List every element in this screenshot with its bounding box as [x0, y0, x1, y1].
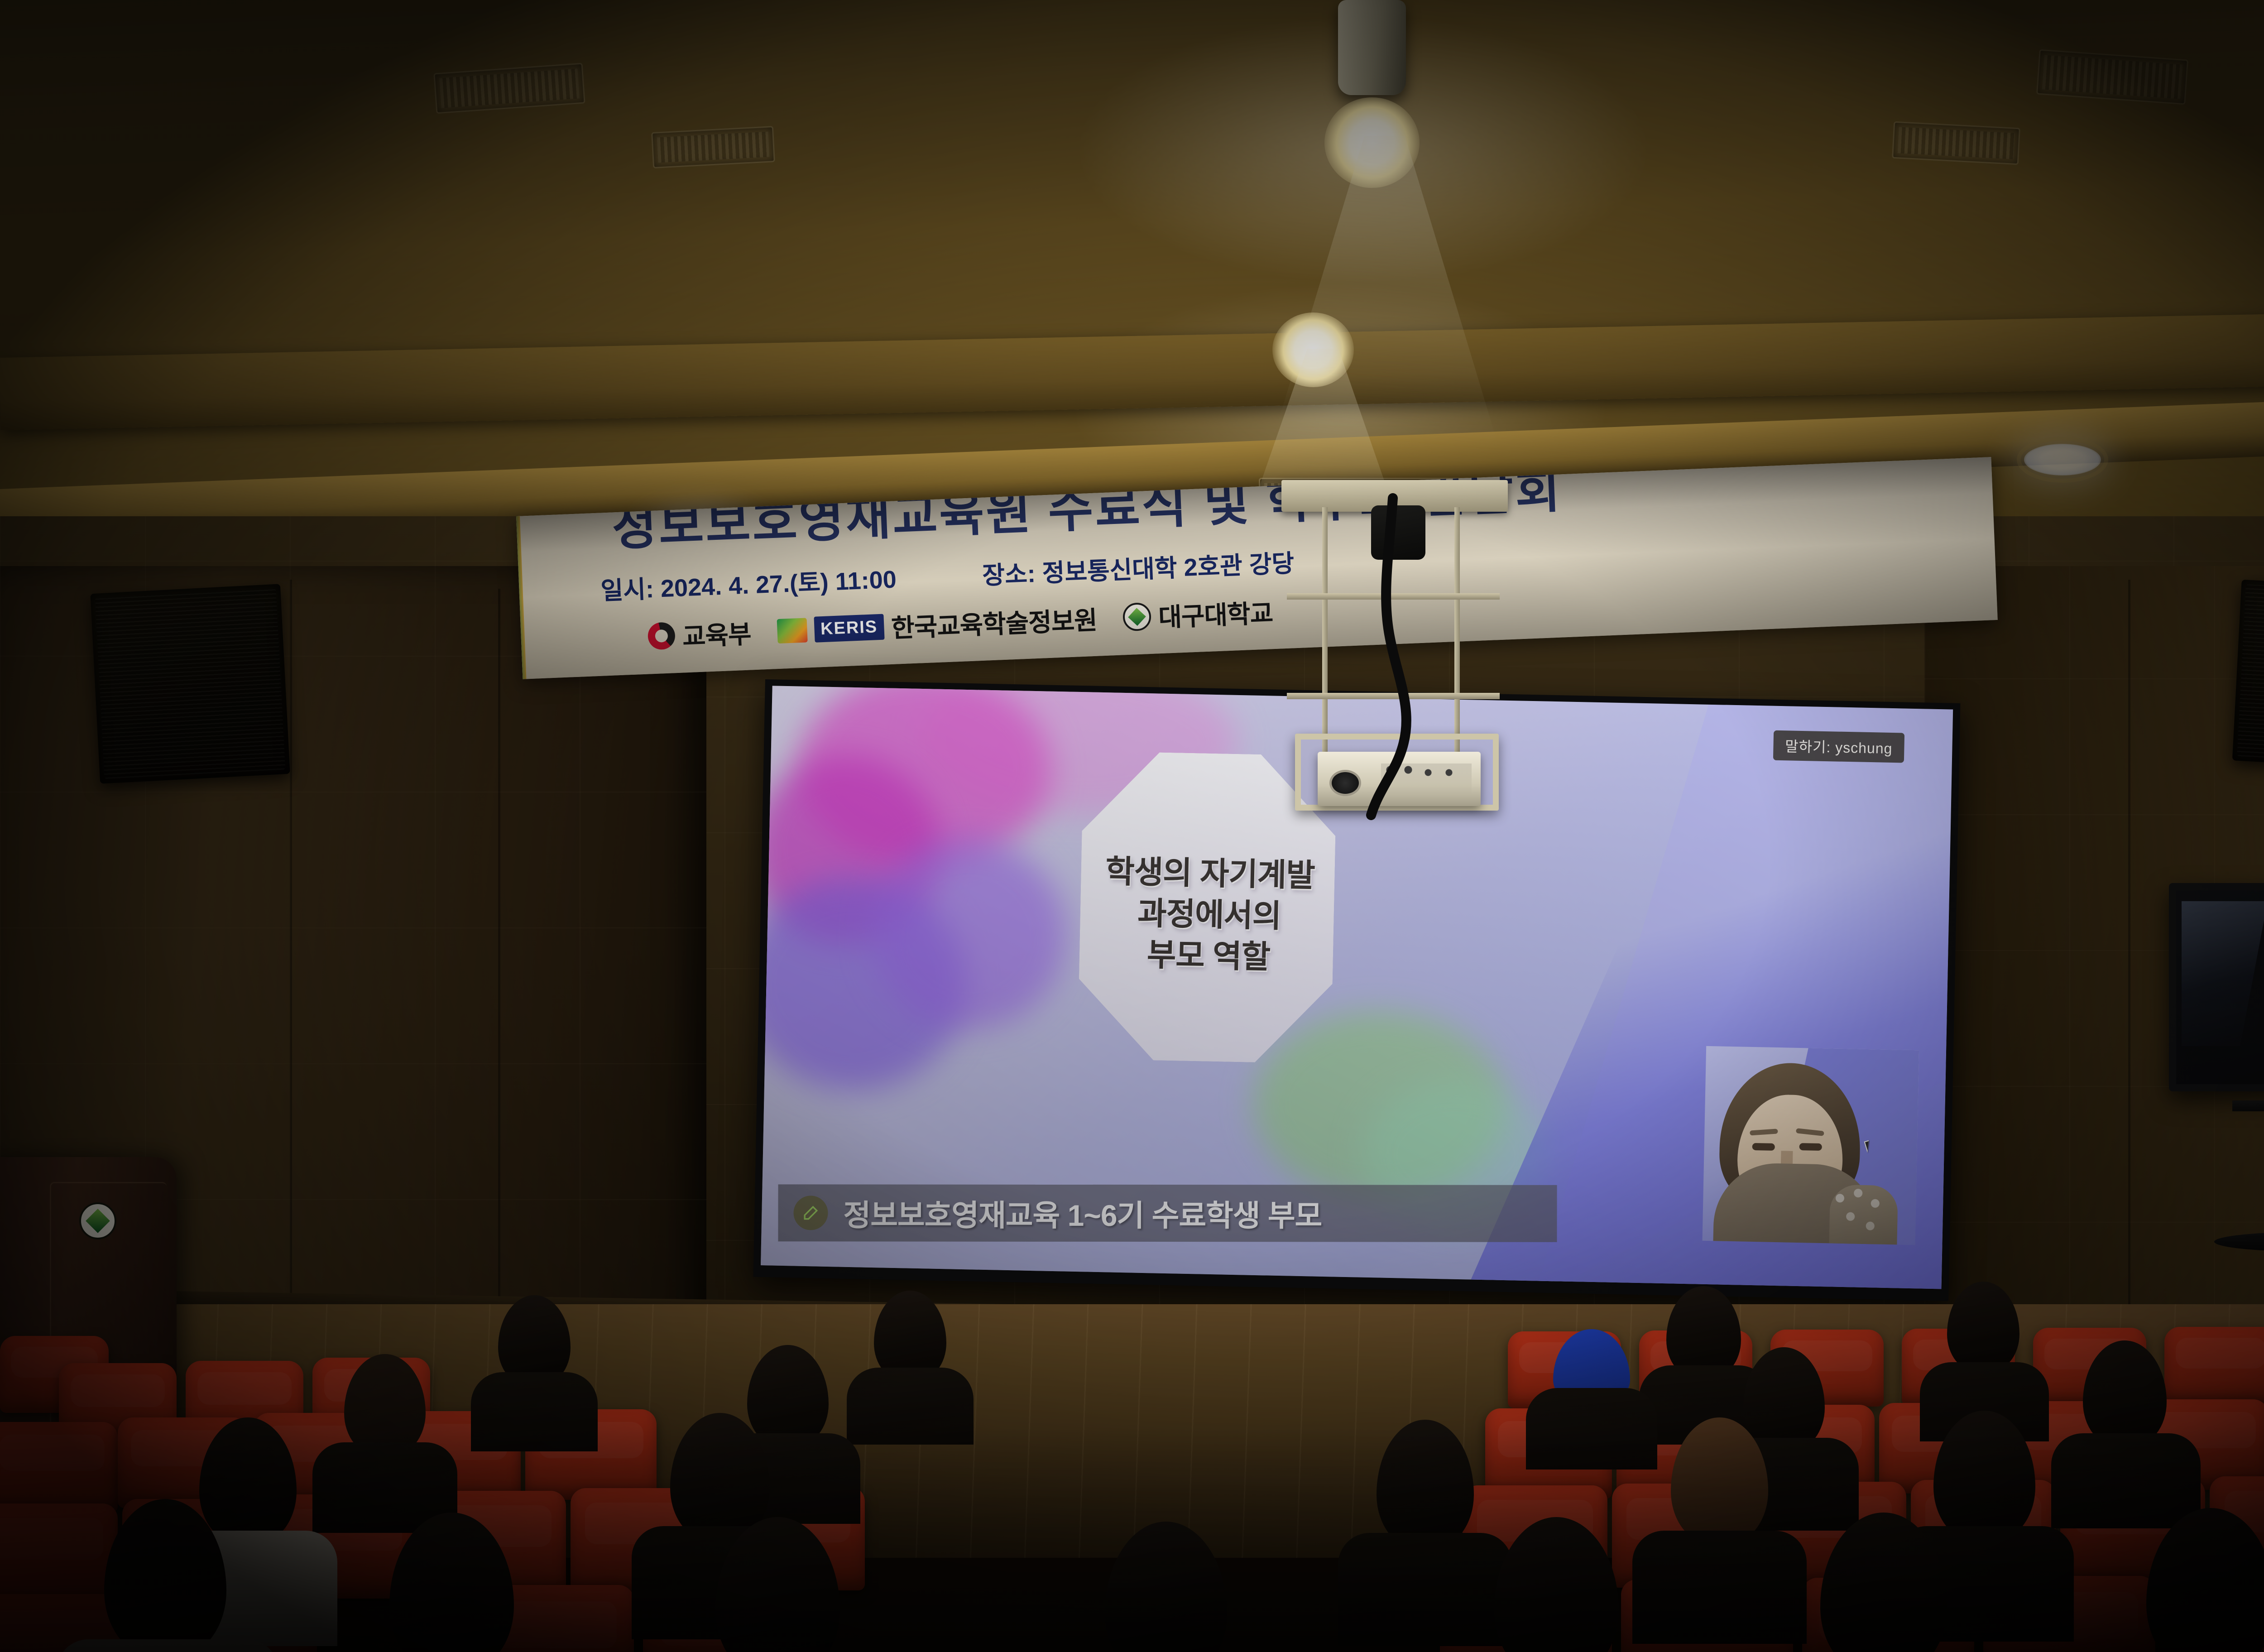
audience-member-head: [1377, 1420, 1474, 1549]
rig-mount-head: [1371, 505, 1425, 560]
audience-member-head: [670, 1413, 770, 1542]
ceiling-spotlight: [1304, 0, 1440, 235]
light-rim: [2017, 437, 2108, 483]
ceiling-spotlight: [1254, 312, 1372, 503]
audience-member-head: [1105, 1522, 1227, 1652]
participant-lace-shawl: [1829, 1184, 1898, 1245]
monitor-shelf: [2232, 1100, 2264, 1111]
rig-crossbar: [1287, 593, 1500, 600]
keris-badge: KERIS: [814, 614, 884, 643]
audience-member-shoulders: [57, 1639, 278, 1652]
slide-footer-text: 정보보호영재교육 1~6기 수료학생 부모: [843, 1191, 1322, 1235]
logo-label: 한국교육학술정보원: [891, 600, 1098, 645]
wall-monitor[interactable]: [2169, 883, 2264, 1091]
wall-speaker-left: [90, 584, 290, 783]
rig-rod: [1322, 507, 1328, 761]
seat[interactable]: [0, 1422, 118, 1513]
speaker-grille: [2237, 584, 2264, 765]
ceiling-vent: [651, 126, 775, 168]
slide-title: 학생의 자기계발 과정에서의 부모 역할: [1065, 850, 1353, 980]
keris-mark-icon: [777, 618, 807, 644]
ceiling-vent: [1892, 121, 2020, 165]
rig-crossbar: [1287, 693, 1500, 699]
ceiling-projector-rig: [1268, 480, 1521, 824]
banner-logo-row: 교육부 KERIS 한국교육학술정보원 대구대학교: [647, 593, 1273, 654]
daegu-university-emblem-icon: [79, 1202, 116, 1239]
wall-seam: [2128, 580, 2130, 1349]
projector-body: [1318, 752, 1481, 806]
daegu-university-emblem-icon: [1122, 602, 1151, 631]
audience-member-shoulders: [1338, 1533, 1512, 1646]
slide-title-line-2: 과정에서의: [1066, 891, 1353, 938]
logo-keris: KERIS 한국교육학술정보원: [777, 600, 1098, 649]
audience-member-shoulders: [1526, 1388, 1657, 1470]
taegeuk-icon: [648, 622, 676, 650]
audience-member-shoulders: [2051, 1433, 2201, 1528]
logo-daegu-university: 대구대학교: [1122, 593, 1274, 635]
banner-place: 장소: 정보통신대학 2호관 강당: [982, 543, 1295, 591]
speaking-indicator-label: 말하기: yschung: [1773, 730, 1905, 763]
projector-ports: [1381, 764, 1472, 795]
rig-rod: [1454, 507, 1460, 761]
slide-title-line-3: 부모 역할: [1065, 932, 1352, 980]
auditorium-scene: 정보보호영재교육원 수료식 및 학부모 간담회 일시: 2024. 4. 27.…: [0, 0, 2264, 1652]
ceiling-oval-light: [2024, 444, 2101, 475]
audience-member-shoulders: [1632, 1531, 1807, 1644]
logo-ministry-of-education: 교육부: [647, 614, 752, 654]
logo-label: 교육부: [681, 614, 752, 653]
wall-seam: [290, 580, 292, 1340]
video-call-participant-tile[interactable]: [1703, 1046, 1919, 1245]
pencil-icon[interactable]: [793, 1196, 828, 1230]
audience-member-shoulders: [471, 1372, 598, 1451]
audience-member-shoulders: [847, 1368, 974, 1445]
wall-seam: [498, 589, 500, 1322]
logo-label: 대구대학교: [1158, 593, 1274, 634]
seat[interactable]: [2164, 1327, 2264, 1404]
speaker-grille: [95, 589, 285, 779]
banner-date: 일시: 2024. 4. 27.(토) 11:00: [600, 559, 897, 606]
audience-seating: [0, 1304, 2264, 1652]
slide-title-line-1: 학생의 자기계발: [1067, 850, 1353, 897]
seat[interactable]: [0, 1503, 118, 1608]
spotlight-housing: [1338, 0, 1406, 95]
projector-lens-icon: [1329, 770, 1361, 796]
slide-footer-bar: 정보보호영재교육 1~6기 수료학생 부모: [778, 1184, 1557, 1242]
audience-member-head: [747, 1345, 829, 1447]
